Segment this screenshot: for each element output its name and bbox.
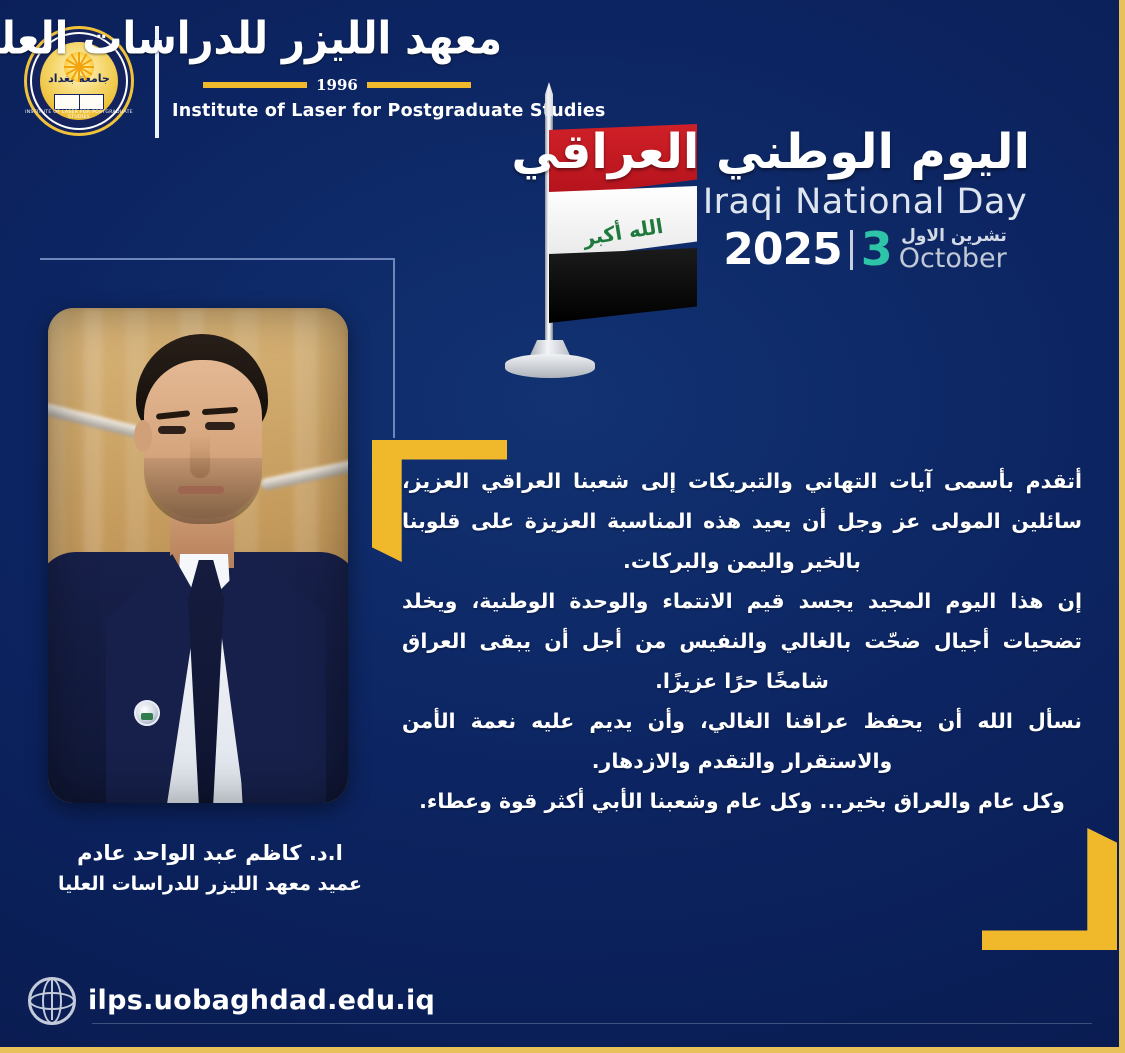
message-paragraph-4: وكل عام والعراق بخير... وكل عام وشعبنا ا… (402, 782, 1082, 822)
portrait-caption: ا.د. كاظم عبد الواحد عادم عميد معهد اللي… (10, 838, 410, 898)
national-day-month-english: October (899, 243, 1007, 274)
message-paragraph-2: إن هذا اليوم المجيد يجسد قيم الانتماء وا… (402, 582, 1082, 702)
institute-arabic-logotype: معهد الليزر للدراسات العليا (172, 13, 502, 65)
dean-portrait-photo (48, 308, 348, 803)
founding-year: 1996 (316, 76, 358, 94)
dean-title: عميد معهد الليزر للدراسات العليا (10, 870, 410, 899)
national-day-arabic-title: اليوم الوطني العراقي (700, 128, 1030, 176)
institute-english-logotype: Institute of Laser for Postgraduate Stud… (172, 101, 502, 121)
message-block: أتقدم بأسمى آيات التهاني والتبريكات إلى … (372, 440, 1117, 950)
national-day-date: 2025 3 تشرين الاول October (700, 226, 1030, 272)
national-day-english-title: Iraqi National Day (700, 182, 1030, 222)
greeting-message: أتقدم بأسمى آيات التهاني والتبريكات إلى … (402, 462, 1082, 822)
footer: ilps.uobaghdad.edu.iq (0, 961, 1125, 1053)
date-separator (850, 230, 853, 270)
dean-name: ا.د. كاظم عبد الواحد عادم (10, 838, 410, 870)
portrait-vignette (48, 308, 348, 803)
message-paragraph-3: نسأل الله أن يحفظ عراقنا الغالي، وأن يدي… (402, 702, 1082, 782)
globe-ellipse-horizontal (29, 992, 75, 1010)
globe-icon (28, 977, 76, 1025)
gold-bar-left (203, 82, 307, 88)
national-day-day: 3 (861, 226, 893, 272)
seal-book-icon (54, 94, 104, 110)
seal-english-text: INSTITUTE OF LASER FOR POSTGRADUATE STUD… (22, 110, 136, 120)
national-day-year: 2025 (723, 228, 841, 272)
message-paragraph-1: أتقدم بأسمى آيات التهاني والتبريكات إلى … (402, 462, 1082, 582)
gold-edge-right (1119, 0, 1125, 1053)
flag-base (505, 354, 595, 378)
founding-year-row: 1996 (172, 76, 502, 94)
website-url[interactable]: ilps.uobaghdad.edu.iq (88, 985, 435, 1016)
gold-bar-right (367, 82, 471, 88)
poster-canvas: جامعة بغداد INSTITUTE OF LASER FOR POSTG… (0, 0, 1125, 1053)
national-day-lockup: اليوم الوطني العراقي Iraqi National Day … (700, 128, 1030, 272)
gold-bracket-bottom-right (982, 828, 1117, 950)
flag-stripe-black (549, 248, 697, 323)
national-day-month-column: تشرين الاول October (899, 228, 1007, 272)
footer-rule (92, 1023, 1092, 1024)
header-title-block: معهد الليزر للدراسات العليا 1996 Institu… (172, 16, 502, 121)
